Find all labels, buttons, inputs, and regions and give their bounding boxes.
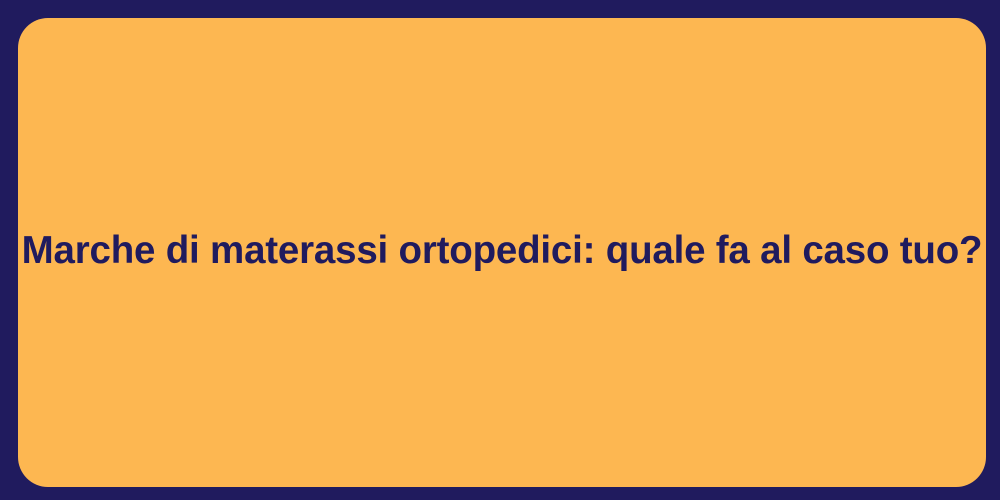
content-card: Marche di materassi ortopedici: quale fa… <box>18 18 986 487</box>
outer-frame: Marche di materassi ortopedici: quale fa… <box>0 0 1000 500</box>
page-title: Marche di materassi ortopedici: quale fa… <box>0 229 1000 273</box>
